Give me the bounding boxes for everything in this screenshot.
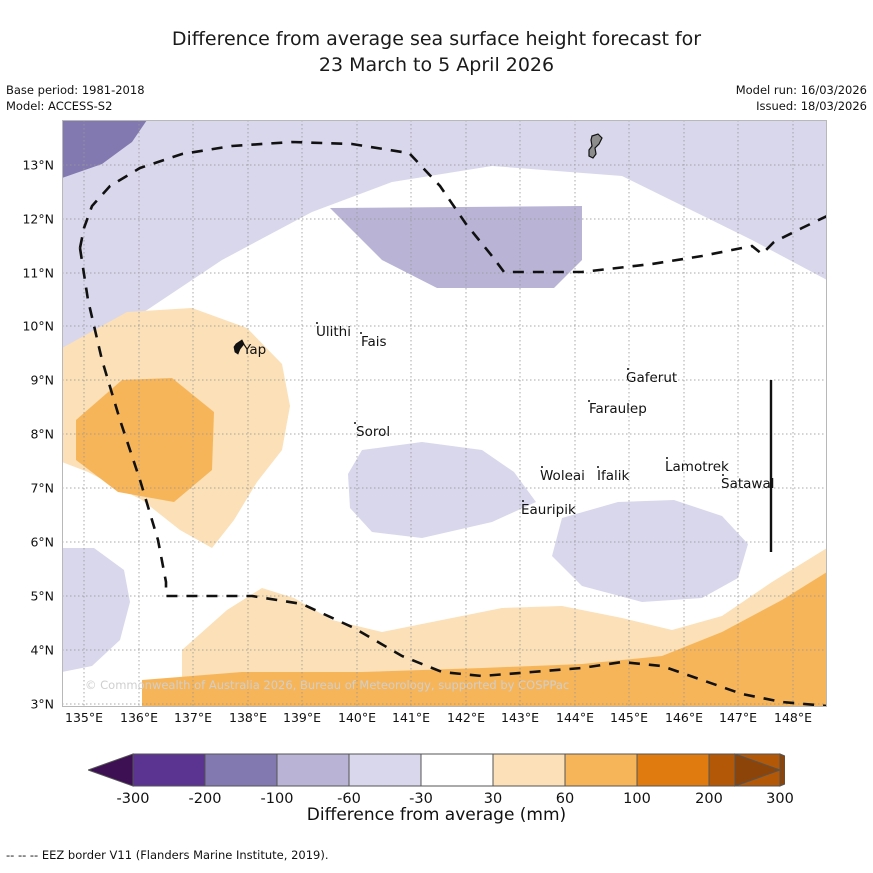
anomaly-regions — [62, 120, 827, 707]
x-tick-135e: 135°E — [65, 710, 103, 725]
place-label-woleai: Woleai — [540, 468, 585, 484]
y-tick-13n: 13°N — [0, 158, 54, 173]
y-tick-8n: 8°N — [0, 427, 54, 442]
base-period-text: Base period: 1981-2018 — [6, 82, 145, 98]
x-tick-143e: 143°E — [501, 710, 539, 725]
model-run-text: Model run: 16/03/2026 — [736, 82, 867, 98]
title-line-2: 23 March to 5 April 2026 — [0, 52, 873, 78]
place-label-sorol: Sorol — [356, 424, 390, 440]
issued-text: Issued: 18/03/2026 — [736, 98, 867, 114]
place-label-faraulep: Faraulep — [589, 401, 647, 417]
y-tick-3n: 3°N — [0, 697, 54, 712]
place-label-fais: Fais — [361, 334, 387, 350]
place-label-gaferut: Gaferut — [626, 370, 677, 386]
y-tick-5n: 5°N — [0, 589, 54, 604]
colorbar-swatch-60-100[interactable] — [565, 754, 637, 786]
title-line-1: Difference from average sea surface heig… — [172, 28, 701, 50]
copyright-text: © Commonwealth of Australia 2026, Bureau… — [85, 678, 569, 692]
region-neg-30-60-west5n — [62, 548, 130, 672]
y-tick-9n: 9°N — [0, 373, 54, 388]
colorbar-swatch-300-200[interactable] — [133, 754, 205, 786]
colorbar-swatch-below-min[interactable] — [88, 754, 133, 786]
map-plot-area[interactable]: Yap Ulithi Fais Sorol Gaferut Faraulep W… — [62, 120, 827, 707]
y-tick-6n: 6°N — [0, 535, 54, 550]
metadata-right: Model run: 16/03/2026 Issued: 18/03/2026 — [736, 82, 867, 114]
x-tick-139e: 139°E — [283, 710, 321, 725]
chart-page: Difference from average sea surface heig… — [0, 0, 873, 873]
x-tick-147e: 147°E — [719, 710, 757, 725]
y-tick-10n: 10°N — [0, 319, 54, 334]
y-tick-4n: 4°N — [0, 643, 54, 658]
x-tick-141e: 141°E — [392, 710, 430, 725]
colorbar-axis-label: Difference from average (mm) — [0, 805, 873, 825]
place-label-eauripik: Eauripik — [521, 502, 576, 518]
anomaly-contour-svg — [62, 120, 827, 707]
region-neg-60-100-guam — [330, 206, 582, 288]
place-label-ifalik: Ifalik — [597, 468, 629, 484]
page-title: Difference from average sea surface heig… — [0, 26, 873, 78]
colorbar[interactable]: -300 -200 -100 -60 -30 30 60 100 200 300 — [88, 753, 785, 787]
colorbar-swatch-200-100[interactable] — [205, 754, 277, 786]
place-label-yap: Yap — [243, 342, 266, 358]
x-tick-146e: 146°E — [665, 710, 703, 725]
x-tick-148e: 148°E — [774, 710, 812, 725]
x-tick-145e: 145°E — [610, 710, 648, 725]
map-canvas — [62, 120, 827, 707]
eez-legend-text: -- -- -- EEZ border V11 (Flanders Marine… — [6, 848, 328, 862]
colorbar-swatch-neutral[interactable] — [421, 754, 493, 786]
place-label-ulithi: Ulithi — [316, 324, 351, 340]
y-tick-7n: 7°N — [0, 481, 54, 496]
x-tick-142e: 142°E — [447, 710, 485, 725]
place-label-lamotrek: Lamotrek — [665, 459, 729, 475]
x-tick-138e: 138°E — [229, 710, 267, 725]
colorbar-swatch-30-60[interactable] — [493, 754, 565, 786]
model-text: Model: ACCESS-S2 — [6, 98, 145, 114]
colorbar-swatch-100-60[interactable] — [277, 754, 349, 786]
x-tick-137e: 137°E — [174, 710, 212, 725]
y-tick-12n: 12°N — [0, 212, 54, 227]
x-tick-144e: 144°E — [556, 710, 594, 725]
y-tick-11n: 11°N — [0, 266, 54, 281]
region-neg-30-60-woleai — [348, 442, 536, 538]
region-neg-30-60-lamotrek — [552, 500, 748, 602]
colorbar-swatches[interactable] — [88, 753, 785, 787]
colorbar-swatch-100-200[interactable] — [637, 754, 709, 786]
x-tick-136e: 136°E — [120, 710, 158, 725]
x-tick-140e: 140°E — [338, 710, 376, 725]
place-label-satawal: Satawal — [721, 476, 774, 492]
colorbar-swatch-60-30[interactable] — [349, 754, 421, 786]
metadata-left: Base period: 1981-2018 Model: ACCESS-S2 — [6, 82, 145, 114]
